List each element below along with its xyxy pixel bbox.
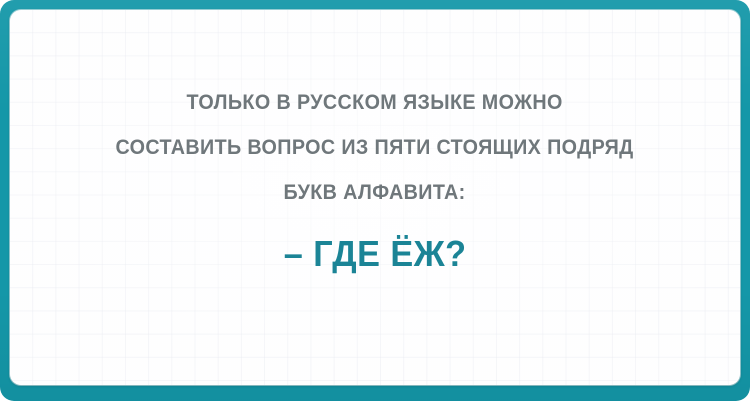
quote-line-1: ТОЛЬКО В РУССКОМ ЯЗЫКЕ МОЖНО xyxy=(116,80,634,125)
quote-content: ТОЛЬКО В РУССКОМ ЯЗЫКЕ МОЖНО СОСТАВИТЬ В… xyxy=(10,10,740,385)
grid-paper-card: ТОЛЬКО В РУССКОМ ЯЗЫКЕ МОЖНО СОСТАВИТЬ В… xyxy=(10,10,740,385)
quote-body: ТОЛЬКО В РУССКОМ ЯЗЫКЕ МОЖНО СОСТАВИТЬ В… xyxy=(99,80,650,215)
quote-line-2: СОСТАВИТЬ ВОПРОС ИЗ ПЯТИ СТОЯЩИХ ПОДРЯД xyxy=(116,125,634,170)
teal-frame: ТОЛЬКО В РУССКОМ ЯЗЫКЕ МОЖНО СОСТАВИТЬ В… xyxy=(0,0,750,401)
quote-line-3: БУКВ АЛФАВИТА: xyxy=(116,170,634,215)
quote-punchline: – ГДЕ ЁЖ? xyxy=(284,233,467,275)
